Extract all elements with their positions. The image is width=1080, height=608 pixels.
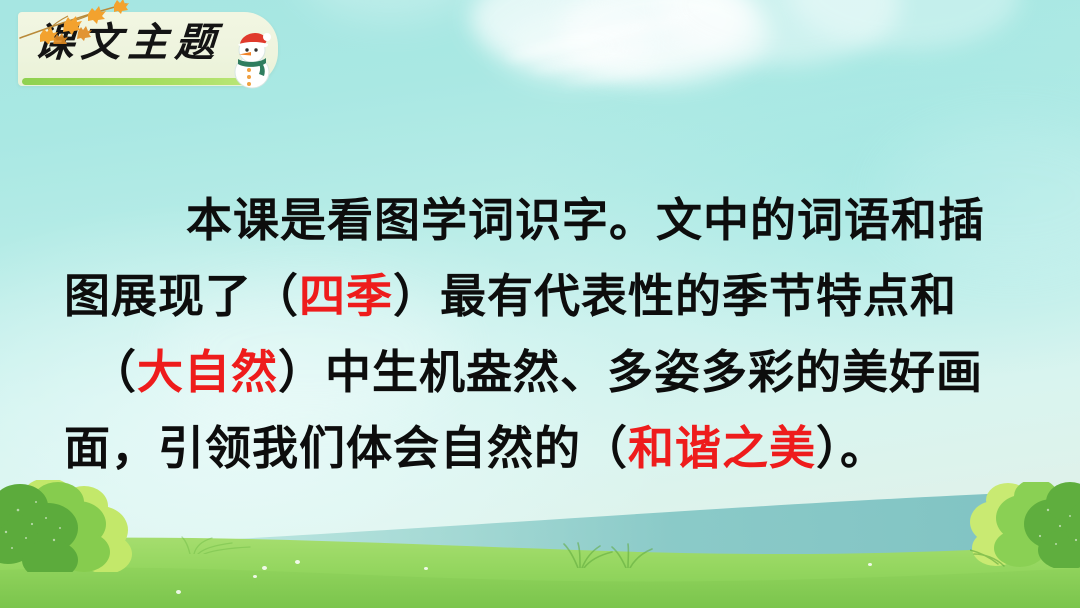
sparkle-icon — [176, 590, 181, 594]
sparkle-icon — [295, 560, 300, 564]
cloud-icon — [560, 0, 770, 85]
autumn-maple-branch-icon — [18, 0, 138, 44]
text-line-1: 本课是看图学词识字。文中的词语和插 — [64, 182, 1024, 258]
text-span: （ — [90, 345, 137, 399]
bush-left — [0, 480, 138, 572]
distant-hill — [0, 488, 1080, 608]
slide-canvas: 课文主题 — [0, 0, 1080, 608]
sparkle-icon — [253, 575, 257, 578]
text-span: 本课是看图学词识字。文中的词语和插 — [186, 193, 985, 247]
text-span: 面，引领我们体会自然的（ — [64, 421, 628, 475]
sparkle-icon — [868, 563, 872, 566]
cloud-icon — [300, 0, 480, 20]
cloud-icon — [500, 10, 650, 80]
text-span: ）最有代表性的季节特点和 — [393, 269, 957, 323]
cloud-icon — [470, 0, 750, 78]
text-span: ）中生机盎然、多姿多彩的美好画 — [278, 345, 983, 399]
text-line-2: 图展现了（四季）最有代表性的季节特点和 — [64, 258, 1024, 334]
text-span: 图展现了（ — [64, 269, 299, 323]
grass-field — [0, 518, 1080, 608]
cloud-icon — [790, 0, 1020, 50]
sparkle-icon — [424, 567, 428, 570]
highlight-keyword-siji: 四季 — [299, 269, 393, 323]
highlight-keyword-daziran: 大自然 — [137, 345, 278, 399]
cloud-wisp-icon — [506, 17, 654, 63]
cloud-wisp-icon — [560, 63, 660, 87]
cloud-wisp-icon — [602, 0, 728, 47]
subject-summary-text: 本课是看图学词识字。文中的词语和插 图展现了（四季）最有代表性的季节特点和 （大… — [64, 182, 1024, 486]
cloud-icon — [660, 0, 900, 65]
grass-tuft-icon — [560, 540, 680, 568]
text-span: ）。 — [816, 421, 887, 475]
bush-right — [970, 482, 1080, 568]
text-line-3: （大自然）中生机盎然、多姿多彩的美好画 — [64, 334, 1024, 410]
grass-tuft-icon — [180, 534, 270, 554]
sparkle-icon — [262, 566, 267, 570]
highlight-keyword-hexiezhimei: 和谐之美 — [628, 421, 816, 475]
cloud-wisp-icon — [530, 43, 649, 76]
snowman-icon — [226, 24, 278, 90]
text-line-4: 面，引领我们体会自然的（和谐之美）。 — [64, 410, 1024, 486]
